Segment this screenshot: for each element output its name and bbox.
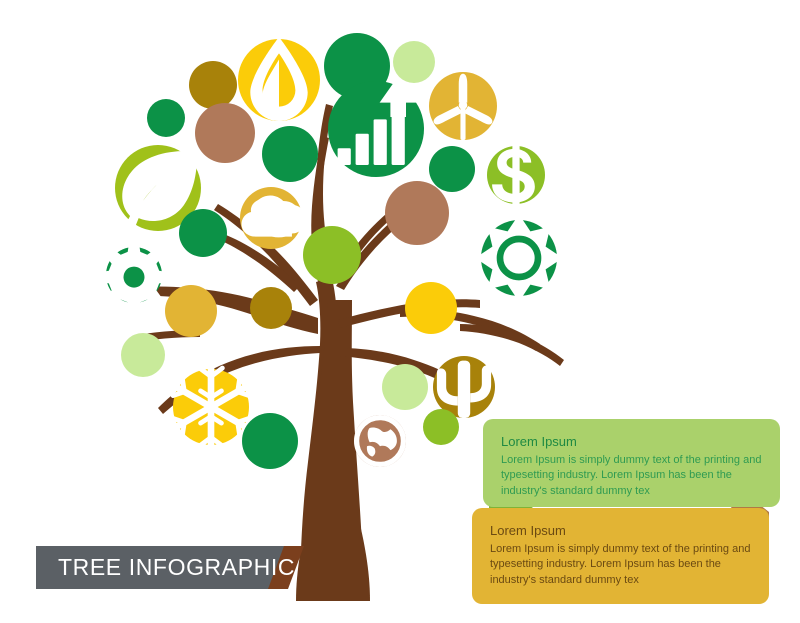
- circle-pale-green-top[interactable]: [393, 41, 435, 83]
- circle-green-left-lower-disc[interactable]: [179, 209, 227, 257]
- circle-yellow-right-disc[interactable]: [405, 282, 457, 334]
- callout-green[interactable]: Lorem Ipsum Lorem Ipsum is simply dummy …: [483, 419, 780, 507]
- circle-pale-green-right-disc[interactable]: [382, 364, 428, 410]
- circle-green-lower-disc[interactable]: [242, 413, 298, 469]
- page-title: TREE INFOGRAPHIC: [58, 546, 295, 589]
- circle-green-mid-disc[interactable]: [262, 126, 318, 182]
- circle-tan-mid[interactable]: [385, 181, 449, 245]
- circle-green-small-right[interactable]: [429, 146, 475, 192]
- circle-dark-gold-mid-disc[interactable]: [250, 287, 292, 329]
- circle-green-small-right-disc[interactable]: [429, 146, 475, 192]
- circle-snowflake[interactable]: [173, 365, 249, 449]
- sun-icon: [475, 214, 562, 301]
- circle-green-small-left[interactable]: [147, 99, 185, 137]
- circle-sun[interactable]: [475, 214, 562, 301]
- callout-gold-body: Lorem Ipsum is simply dummy text of the …: [490, 542, 751, 589]
- circle-yellow-right[interactable]: [405, 282, 457, 334]
- circle-tan-upper[interactable]: [195, 103, 255, 163]
- circle-ochre-small-disc[interactable]: [189, 61, 237, 109]
- infographic-canvas: Lorem Ipsum Lorem Ipsum is simply dummy …: [0, 0, 800, 623]
- circle-cactus[interactable]: [433, 356, 495, 418]
- circle-green-mid[interactable]: [262, 126, 318, 182]
- callout-green-title: Lorem Ipsum: [501, 433, 762, 451]
- circle-green-left-lower[interactable]: [179, 209, 227, 257]
- circle-dollar[interactable]: [487, 145, 545, 206]
- callout-gold[interactable]: Lorem Ipsum Lorem Ipsum is simply dummy …: [472, 508, 769, 604]
- circle-dark-gold-mid[interactable]: [250, 287, 292, 329]
- title-banner: TREE INFOGRAPHIC: [36, 546, 304, 589]
- circle-tan-mid-disc[interactable]: [385, 181, 449, 245]
- circle-gear[interactable]: [100, 243, 169, 312]
- circle-pale-green-left-disc[interactable]: [121, 333, 165, 377]
- callout-green-body: Lorem Ipsum is simply dummy text of the …: [501, 453, 762, 500]
- circle-apple-green-mid[interactable]: [303, 226, 361, 284]
- circle-apple-green-right[interactable]: [423, 409, 459, 445]
- circle-water-drop[interactable]: [238, 37, 320, 121]
- circle-globe[interactable]: [354, 415, 406, 467]
- circle-green-small-left-disc[interactable]: [147, 99, 185, 137]
- circle-gold-left-disc[interactable]: [165, 285, 217, 337]
- circle-ochre-small[interactable]: [189, 61, 237, 109]
- circle-apple-green-mid-disc[interactable]: [303, 226, 361, 284]
- circle-gold-left[interactable]: [165, 285, 217, 337]
- circle-green-lower[interactable]: [242, 413, 298, 469]
- circle-pale-green-top-disc[interactable]: [393, 41, 435, 83]
- trunk-base: [296, 512, 370, 601]
- gear-icon: [100, 243, 169, 312]
- circle-apple-green-right-disc[interactable]: [423, 409, 459, 445]
- circle-tan-upper-disc[interactable]: [195, 103, 255, 163]
- circle-wind-turbine[interactable]: [429, 72, 497, 140]
- circle-pale-green-right[interactable]: [382, 364, 428, 410]
- circle-pale-green-left[interactable]: [121, 333, 165, 377]
- callout-gold-title: Lorem Ipsum: [490, 522, 751, 540]
- circle-cloud[interactable]: [240, 187, 306, 249]
